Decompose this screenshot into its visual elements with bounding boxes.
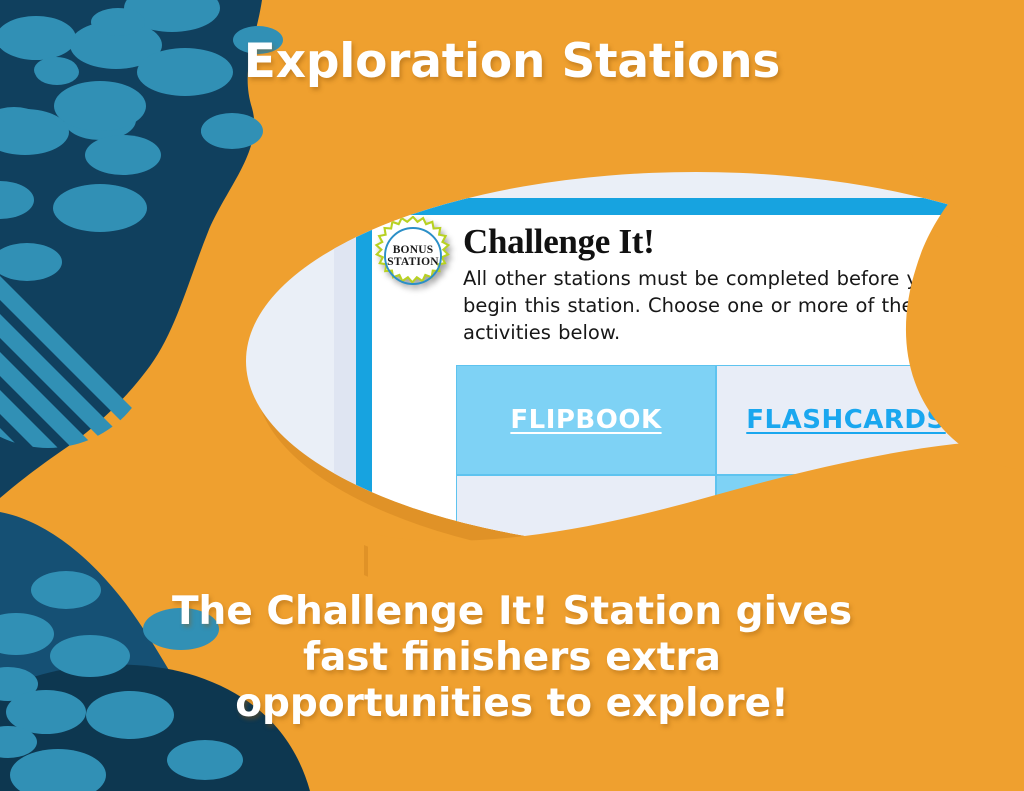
activity-link-flipbook[interactable]: FLIPBOOK <box>510 405 661 435</box>
kesler-science-logo: KESLER SCIENCE <box>962 225 1024 255</box>
logo-line-2: SCIENCE <box>962 240 1024 255</box>
worksheet-card: BONUS STATION Challenge It! All other st… <box>246 172 1024 550</box>
worksheet-title: Challenge It! <box>463 222 655 262</box>
teal-dot-solo-2 <box>201 114 261 148</box>
seal-text: BONUS STATION <box>373 244 453 268</box>
worksheet-page: BONUS STATION Challenge It! All other st… <box>356 198 1024 550</box>
seal-line-2: STATION <box>373 256 453 268</box>
worksheet-instructions: All other stations must be completed bef… <box>463 265 993 346</box>
header-bar-top <box>356 198 1024 215</box>
activity-cell-row2-right[interactable] <box>716 475 976 550</box>
slide-canvas: Exploration Stations BONUS STATION Chall… <box>0 0 1024 791</box>
activity-cell-flashcards[interactable]: FLASHCARDS <box>716 365 976 475</box>
table-row: FLIPBOOK FLASHCARDS <box>456 365 1024 475</box>
activities-table: FLIPBOOK FLASHCARDS <box>456 365 1024 550</box>
activity-cell-row2-left[interactable] <box>456 475 716 550</box>
table-row <box>456 475 1024 550</box>
caption-text: The Challenge It! Station gives fast fin… <box>152 589 872 727</box>
header-bar-left <box>356 198 372 500</box>
page-title: Exploration Stations <box>0 34 1024 89</box>
bonus-station-seal: BONUS STATION <box>373 216 453 296</box>
activity-cell-flipbook[interactable]: FLIPBOOK <box>456 365 716 475</box>
activity-link-flashcards[interactable]: FLASHCARDS <box>746 405 945 435</box>
seal-line-1: BONUS <box>373 244 453 256</box>
